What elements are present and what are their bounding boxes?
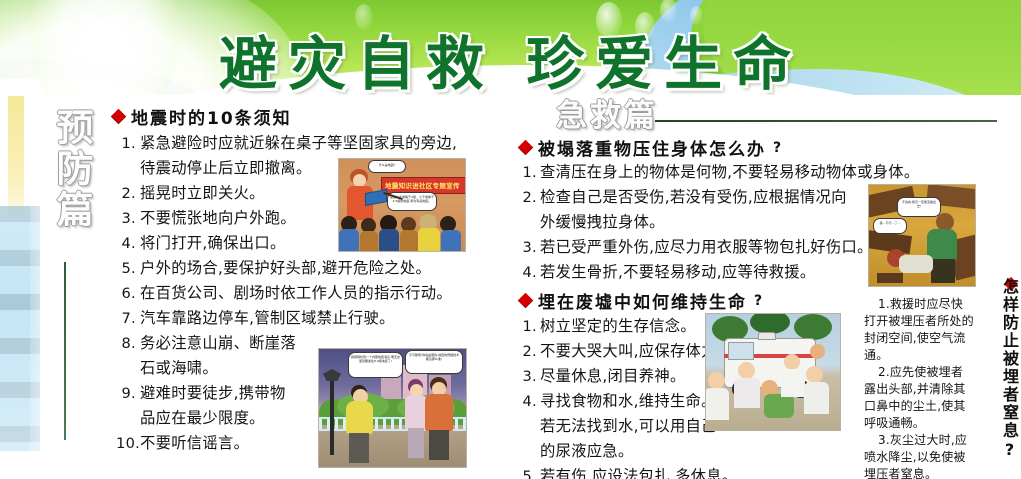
list-item-text: 尽量休息,闭目养神。 bbox=[540, 364, 686, 389]
list-item-text: 的尿液应急。 bbox=[540, 439, 634, 464]
illo2-lamp-post bbox=[330, 377, 334, 455]
list-item-number: 3. bbox=[522, 235, 537, 260]
left-edge-yellow-strip bbox=[8, 96, 24, 216]
suffocation-paragraph: 2.应先使被埋者露出头部,并清除其口鼻中的尘土,使其呼吸通畅。 bbox=[864, 364, 974, 432]
list-item: 1.紧急避险时应就近躲在桌子等坚固家具的旁边, bbox=[116, 131, 457, 156]
list-item-number: 1. bbox=[522, 160, 537, 185]
illo4-person-body bbox=[734, 378, 760, 408]
suffocation-paragraph: 1.救援时应尽快打开被埋压者所处的封闭空间,使空气流通。 bbox=[864, 296, 974, 364]
list-item-number: 2. bbox=[116, 181, 136, 206]
list-item: 3.若已受严重外伤,应尽力用衣服等物包扎好伤口。 bbox=[522, 235, 920, 260]
illo3-speech-2: 我…不行…了… bbox=[873, 218, 907, 234]
illo4-ambulance-window bbox=[728, 342, 754, 360]
list-item: 4.的尿液应急。 bbox=[522, 439, 738, 464]
list-item-text: 外缓慢拽拉身体。 bbox=[540, 210, 665, 235]
heading-survive-rubble: 埋在废墟中如何维持生命 ? bbox=[520, 288, 762, 313]
list-item-number: 4. bbox=[116, 231, 136, 256]
illo1-audience-body bbox=[441, 230, 461, 252]
list-item-text: 寻找食物和水,维持生命。 bbox=[540, 389, 717, 414]
list-item-text: 将门打开,确保出口。 bbox=[140, 231, 286, 256]
list-item-number: 1. bbox=[522, 314, 537, 339]
list-item-number: 5. bbox=[116, 256, 136, 281]
list-item-text: 避难时要徒步,携带物 bbox=[140, 381, 286, 406]
list-item-text: 待震动停止后立即撤离。 bbox=[140, 156, 312, 181]
illo3-rescuer-legs bbox=[931, 259, 955, 283]
list-item-number: 10. bbox=[116, 431, 136, 456]
list-item-text: 若发生骨折,不要轻易移动,应等待救援。 bbox=[540, 260, 815, 285]
illo4-person-body bbox=[705, 388, 729, 420]
list-item-number: 9. bbox=[116, 381, 136, 406]
list-item-text: 石或海啸。 bbox=[140, 356, 218, 381]
illo4-tree bbox=[794, 314, 832, 340]
list-item-text: 不要大哭大叫,应保存体力。 bbox=[540, 339, 732, 364]
suffocation-paragraphs: 1.救援时应尽快打开被埋压者所处的封闭空间,使空气流通。2.应先使被埋者露出头部… bbox=[864, 296, 974, 479]
section-label-prevention: 预防篇 bbox=[44, 108, 98, 231]
list-item: 6.在百货公司、剧场时依工作人员的指示行动。 bbox=[116, 281, 457, 306]
illo3-victim-debris bbox=[877, 273, 903, 283]
list-item: 2.外缓慢拽拉身体。 bbox=[522, 210, 920, 235]
illo1-audience-body bbox=[400, 230, 418, 252]
illo4-ambulance-lightbar bbox=[758, 332, 776, 340]
illustration-ambulance-rescue bbox=[705, 313, 841, 431]
list-item-text: 若有伤,应设法包扎,多休息。 bbox=[540, 464, 738, 479]
list-item-number: 7. bbox=[116, 306, 136, 331]
illo2-woman-legs bbox=[408, 428, 424, 458]
illo4-person-head bbox=[738, 362, 755, 379]
list-item-text: 品应在最少限度。 bbox=[140, 406, 265, 431]
diamond-bullet-icon bbox=[518, 140, 534, 156]
poster-root: 避灾自救 珍爱生命 预防篇 地震时的10条须知 1.紧急避险时应就近躲在桌子等坚… bbox=[0, 0, 1021, 479]
illo4-person-head bbox=[708, 372, 725, 389]
list-item-number: 4. bbox=[522, 260, 537, 285]
illo1-banner-text: 地震知识进社区专题宣传 bbox=[385, 180, 460, 190]
list-item-text: 户外的场合,要保护好头部,避开危险之处。 bbox=[140, 256, 431, 281]
illo3-victim-body bbox=[899, 255, 933, 273]
list-item: 5.户外的场合,要保护好头部,避开危险之处。 bbox=[116, 256, 457, 281]
list-item: 7.汽车靠路边停车,管制区域禁止行驶。 bbox=[116, 306, 457, 331]
illo1-audience-body bbox=[379, 229, 399, 252]
list-item-number: 5. bbox=[522, 464, 537, 479]
list-item-number: 3. bbox=[116, 206, 136, 231]
list-item-text: 若无法找到水,可以用自己 bbox=[540, 414, 717, 439]
list-item: 2.检查自己是否受伤,若没有受伤,应根据情况向 bbox=[522, 185, 920, 210]
illo1-audience-body bbox=[339, 229, 359, 252]
suffocation-paragraph: 3.灰尘过大时,应喷水降尘,以免使被埋压者窒息。 bbox=[864, 432, 974, 479]
heading-ten-rules: 地震时的10条须知 bbox=[113, 104, 292, 129]
heading-crushed-body-mark: ? bbox=[773, 140, 781, 156]
list-item-text: 紧急避险时应就近躲在桌子等坚固家具的旁边, bbox=[140, 131, 457, 156]
diamond-bullet-icon bbox=[518, 293, 534, 309]
illustration-community-lecture: 地震知识进社区专题宣传 什么是地震? 震级大于或等于3级、小于或等于4.5级的地… bbox=[338, 158, 466, 252]
list-item-text: 不要慌张地向户外跑。 bbox=[140, 206, 296, 231]
illo1-audience-body bbox=[418, 228, 440, 252]
illo1-audience-body bbox=[360, 231, 378, 252]
illo3-speech-1: 不会的,我们一定能活着出去! bbox=[897, 197, 941, 217]
poster-title: 避灾自救 珍爱生命 bbox=[0, 17, 1021, 95]
list-item-text: 树立坚定的生存信念。 bbox=[540, 314, 696, 339]
list-item: 4.若发生骨折,不要轻易移动,应等待救援。 bbox=[522, 260, 920, 285]
heading-crushed-body: 被塌落重物压住身体怎么办 ? bbox=[520, 135, 781, 160]
illo2-woman-body bbox=[405, 395, 427, 429]
list-item-text: 汽车靠路边停车,管制区域禁止行驶。 bbox=[140, 306, 395, 331]
list-item-number: 4. bbox=[522, 389, 537, 414]
illo4-person-head bbox=[806, 366, 823, 383]
illo2-speech-2: 不可能吧!你说是假的,地震的预报技术都没那么准! bbox=[405, 350, 463, 374]
list-item-text: 摇晃时立即关火。 bbox=[140, 181, 265, 206]
illo2-man-shirt bbox=[346, 401, 373, 434]
list-item-number: 2. bbox=[522, 185, 537, 210]
list-item-number: 1. bbox=[116, 131, 136, 156]
illo2-speech-1: 我刚刚听到一个内部地震消息,明天这里就要发生8.9级地震了! bbox=[348, 352, 403, 378]
illo2-man2-shirt bbox=[425, 394, 453, 431]
heading-survive-rubble-text: 埋在废墟中如何维持生命 bbox=[538, 288, 747, 313]
illo4-person-head bbox=[784, 354, 800, 370]
illo4-person-body bbox=[781, 369, 805, 397]
header-banner: 避灾自救 珍爱生命 bbox=[0, 0, 1021, 95]
diamond-bullet-icon bbox=[111, 109, 127, 125]
illo1-speech-1: 什么是地震? bbox=[368, 160, 406, 173]
list-item-text: 查清压在身上的物体是何物,不要轻易移动物体或身体。 bbox=[540, 160, 920, 185]
list-item-text: 不要听信谣言。 bbox=[140, 431, 249, 456]
section-label-first-aid: 急救篇 bbox=[556, 90, 658, 135]
illo4-patient-body bbox=[764, 394, 794, 418]
list-item-text: 在百货公司、剧场时依工作人员的指示行动。 bbox=[140, 281, 452, 306]
illustration-rescue-rubble: 不会的,我们一定能活着出去! 我…不行…了… bbox=[868, 184, 976, 287]
illo2-man-pants bbox=[349, 433, 369, 463]
illo2-man2-pants bbox=[429, 430, 449, 460]
illo4-person-body bbox=[804, 382, 829, 414]
section-label-prevention-rule bbox=[64, 262, 66, 440]
list-item-text: 务必注意山崩、断崖落 bbox=[140, 331, 296, 356]
section-label-first-aid-rule bbox=[655, 120, 997, 122]
list-item-number: 2. bbox=[522, 339, 537, 364]
heading-crushed-body-text: 被塌落重物压住身体怎么办 bbox=[538, 135, 766, 160]
list-item: 5.若有伤,应设法包扎,多休息。 bbox=[522, 464, 738, 479]
list-item-number: 3. bbox=[522, 364, 537, 389]
illustration-street-rumor: 我刚刚听到一个内部地震消息,明天这里就要发生8.9级地震了! 不可能吧!你说是假… bbox=[318, 348, 467, 468]
heading-ten-rules-text: 地震时的10条须知 bbox=[131, 104, 292, 129]
list-item-text: 检查自己是否受伤,若没有受伤,应根据情况向 bbox=[540, 185, 847, 210]
illo4-person-head bbox=[810, 344, 825, 359]
list-item: 1.查清压在身上的物体是何物,不要轻易移动物体或身体。 bbox=[522, 160, 920, 185]
list-item-number: 6. bbox=[116, 281, 136, 306]
list-item-text: 若已受严重外伤,应尽力用衣服等物包扎好伤口。 bbox=[540, 235, 873, 260]
list-item-number: 8. bbox=[116, 331, 136, 356]
heading-survive-rubble-mark: ? bbox=[754, 293, 762, 309]
crush-list: 1.查清压在身上的物体是何物,不要轻易移动物体或身体。2.检查自己是否受伤,若没… bbox=[522, 160, 920, 285]
heading-prevent-suffocation: 怎样防止被埋者窒息? bbox=[999, 278, 1019, 461]
